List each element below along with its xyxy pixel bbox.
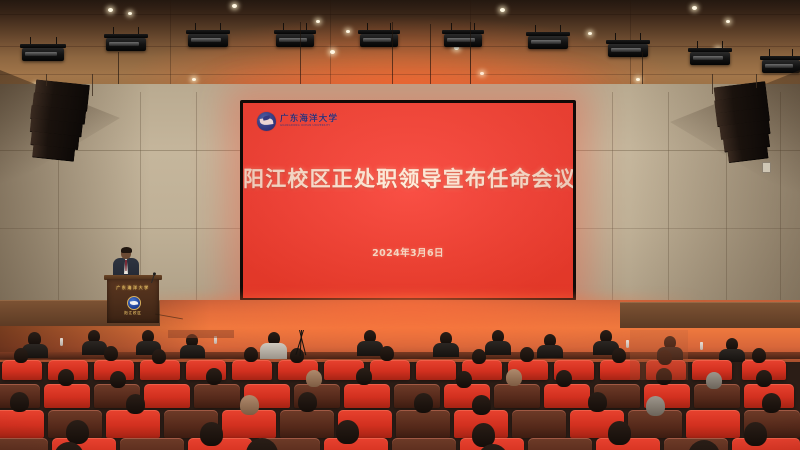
led-presentation-screen: 广东海洋大学 GUANGDONG OCEAN UNIVERSITY 阳江校区正处… — [240, 100, 576, 301]
podium-sub-text: 阳江校区 — [107, 310, 159, 315]
podium-emblem-icon — [127, 296, 141, 310]
ceiling-downlight-icon — [108, 8, 113, 12]
ceiling-seam — [330, 0, 331, 88]
audience-head — [762, 393, 781, 413]
audience-head — [200, 422, 223, 446]
water-bottle-icon — [626, 340, 629, 348]
audience-head — [752, 348, 766, 363]
ceiling-downlight-icon — [330, 50, 335, 54]
audience-head — [104, 346, 118, 361]
ceiling-seam — [0, 14, 800, 15]
stage-dado-right — [620, 302, 800, 328]
water-bottle-icon — [60, 338, 63, 346]
ceiling-downlight-icon — [192, 78, 196, 81]
audience-head — [152, 349, 166, 364]
ceiling-downlight-icon — [692, 6, 697, 10]
ceiling-downlight-icon — [232, 4, 237, 8]
ceiling-downlight-icon — [726, 20, 730, 23]
audience-head — [608, 421, 631, 445]
water-bottle-icon — [700, 342, 703, 350]
audience-shoulders — [180, 345, 205, 358]
audience-head — [414, 393, 433, 413]
audience-shoulders — [260, 343, 287, 359]
audience-shoulders — [485, 341, 511, 355]
meeting-title: 阳江校区正处职领导宣布任命会议 — [243, 163, 573, 193]
audience-shoulders — [433, 343, 459, 357]
ceiling-downlight-icon — [500, 8, 505, 12]
ceiling-downlight-icon — [128, 12, 132, 15]
audience-head — [126, 394, 145, 414]
audience-head — [206, 368, 222, 385]
podium: 广东海洋大学 阳江校区 — [107, 275, 159, 323]
audience-head — [298, 392, 317, 412]
university-logo: 广东海洋大学 GUANGDONG OCEAN UNIVERSITY — [257, 112, 338, 131]
audience-head — [380, 346, 394, 361]
podium-name-text: 广东海洋大学 — [107, 285, 159, 291]
audience-head — [588, 392, 607, 412]
ceiling-seam — [0, 74, 800, 75]
ceiling-downlight-icon — [588, 32, 592, 35]
audience-head — [240, 395, 259, 415]
audience-head — [756, 370, 772, 387]
logo-name-cn: 广东海洋大学 — [280, 115, 338, 124]
audience-head — [520, 347, 534, 362]
audience-head — [646, 396, 665, 416]
logo-text-block: 广东海洋大学 GUANGDONG OCEAN UNIVERSITY — [280, 115, 338, 128]
ceiling-seam — [170, 0, 171, 90]
audience-head — [110, 371, 126, 388]
audience-shoulders — [537, 345, 563, 358]
audience-head — [66, 420, 89, 444]
audience-head — [456, 371, 472, 388]
wall-control-panel — [762, 162, 771, 173]
podium-body: 广东海洋大学 阳江校区 — [107, 279, 159, 323]
meeting-date: 2024年3月6日 — [243, 245, 573, 259]
audience-head — [10, 392, 29, 412]
audience-head — [472, 395, 491, 415]
audience-head — [306, 370, 322, 387]
audience-head — [472, 349, 486, 364]
ceiling-downlight-icon — [636, 78, 640, 81]
line-array-speaker-icon — [26, 79, 92, 163]
audience-head — [744, 422, 767, 446]
audience-head — [706, 372, 722, 389]
audience-head — [14, 348, 28, 363]
ceiling-downlight-icon — [316, 20, 320, 23]
auditorium-scene: 广东海洋大学 GUANGDONG OCEAN UNIVERSITY 阳江校区正处… — [0, 0, 800, 450]
ceiling-downlight-icon — [480, 72, 484, 75]
screen-vignette — [243, 103, 573, 298]
university-emblem-icon — [257, 112, 276, 131]
ceiling-downlight-icon — [346, 30, 350, 33]
logo-name-en: GUANGDONG OCEAN UNIVERSITY — [280, 125, 338, 128]
audience-head — [506, 369, 522, 386]
audience-head — [244, 347, 258, 362]
audience-head — [356, 368, 372, 385]
line-array-speaker-icon — [712, 81, 777, 163]
audience-head — [336, 420, 359, 444]
screen-surface: 广东海洋大学 GUANGDONG OCEAN UNIVERSITY 阳江校区正处… — [243, 103, 573, 298]
audience-head — [612, 348, 626, 363]
audience-head — [58, 369, 74, 386]
speaker-hair — [121, 247, 132, 253]
audience-head — [556, 370, 572, 387]
